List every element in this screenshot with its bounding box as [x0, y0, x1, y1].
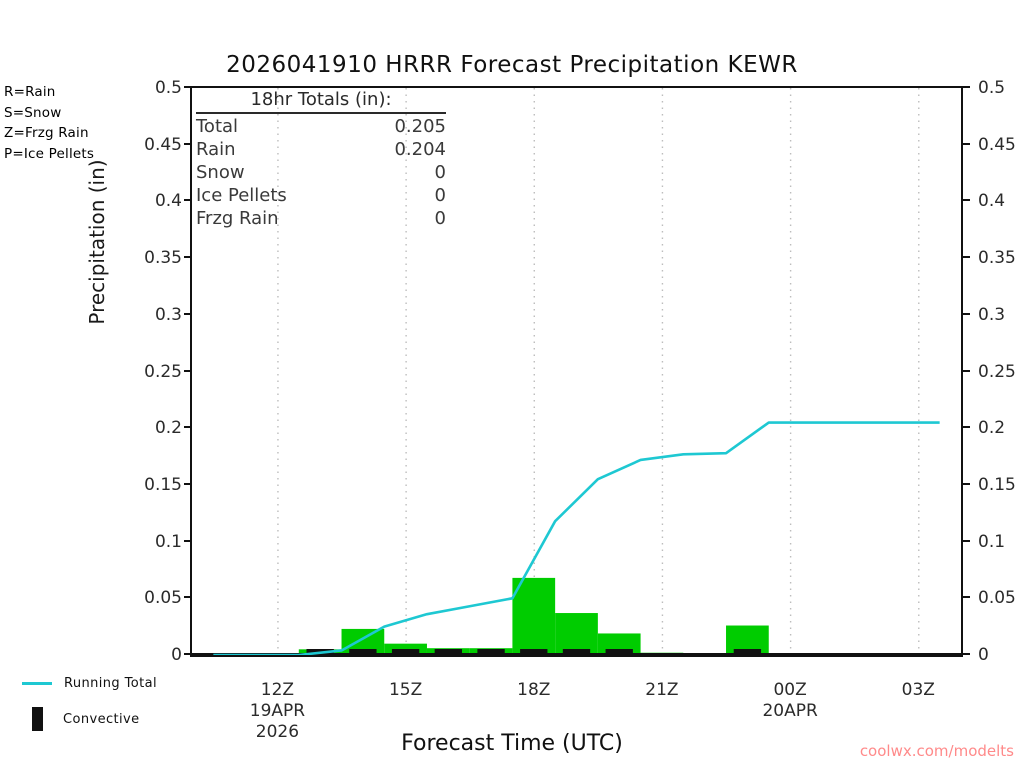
- plot-svg: RRRRRRRRR: [192, 88, 961, 655]
- y-axis-title: Precipitation (in): [85, 117, 109, 367]
- legend-item-running-total: Running Total: [10, 665, 190, 701]
- legend-label-ice-pellets: P=Ice Pellets: [4, 146, 94, 162]
- y-tick-label-right: 0.1: [978, 532, 1005, 552]
- running-total-line-swatch: [22, 682, 52, 685]
- y-tick-mark-left: [184, 370, 192, 372]
- y-tick-label-left: 0.1: [155, 532, 182, 552]
- y-tick-mark-right: [962, 370, 970, 372]
- x-tick-hour: 15Z: [389, 680, 422, 701]
- y-tick-mark-right: [962, 256, 970, 258]
- y-tick-label-left: 0.2: [155, 418, 182, 438]
- legend-item-ice-pellets: P=Ice Pellets: [4, 144, 94, 165]
- x-tick-label: 00Z20APR: [762, 680, 817, 722]
- y-tick-mark-left: [184, 483, 192, 485]
- x-tick-label: 15Z: [389, 680, 422, 701]
- plot-inner: RRRRRRRRR: [192, 88, 961, 655]
- y-tick-mark-right: [962, 653, 970, 655]
- y-tick-mark-right: [962, 313, 970, 315]
- x-tick-label: 03Z: [902, 680, 935, 701]
- x-tick-sublabel: 20APR: [762, 701, 817, 722]
- y-tick-mark-left: [184, 540, 192, 542]
- y-tick-label-left: 0.3: [155, 305, 182, 325]
- y-tick-label-left: 0: [171, 645, 182, 665]
- x-tick-hour: 18Z: [517, 680, 550, 701]
- x-tick-hour: 21Z: [645, 680, 678, 701]
- series-legend: Running Total Convective: [10, 665, 190, 737]
- y-tick-mark-right: [962, 143, 970, 145]
- y-tick-label-right: 0.2: [978, 418, 1005, 438]
- y-tick-label-left: 0.4: [155, 191, 182, 211]
- y-tick-mark-right: [962, 596, 970, 598]
- y-tick-mark-left: [184, 256, 192, 258]
- y-tick-mark-left: [184, 86, 192, 88]
- y-tick-label-right: 0.05: [978, 588, 1016, 608]
- legend-item-rain: R=Rain: [4, 82, 94, 103]
- x-tick-hour: 03Z: [902, 680, 935, 701]
- legend-label-snow: S=Snow: [4, 105, 62, 121]
- y-tick-mark-left: [184, 653, 192, 655]
- x-tick-label: 18Z: [517, 680, 550, 701]
- y-tick-mark-left: [184, 426, 192, 428]
- y-axis-left-ticks: 00.050.10.150.20.250.30.350.40.450.5: [118, 86, 182, 657]
- y-tick-mark-right: [962, 426, 970, 428]
- y-tick-label-left: 0.15: [144, 475, 182, 495]
- y-tick-label-left: 0.25: [144, 362, 182, 382]
- y-tick-mark-right: [962, 86, 970, 88]
- y-tick-label-left: 0.05: [144, 588, 182, 608]
- x-tick-label: 21Z: [645, 680, 678, 701]
- y-tick-label-right: 0.35: [978, 248, 1016, 268]
- plot-area: RRRRRRRRR: [190, 86, 963, 657]
- legend-label-running-total: Running Total: [64, 676, 157, 691]
- y-tick-mark-right: [962, 540, 970, 542]
- legend-item-convective: Convective: [10, 701, 190, 737]
- y-tick-label-right: 0: [978, 645, 989, 665]
- y-axis-right-ticks: 00.050.10.150.20.250.30.350.40.450.5: [978, 86, 1024, 657]
- legend-item-frzg-rain: Z=Frzg Rain: [4, 123, 94, 144]
- precip-bar: [555, 613, 598, 655]
- y-tick-mark-right: [962, 483, 970, 485]
- x-tick-sublabel: 19APR: [250, 701, 305, 722]
- y-tick-label-right: 0.4: [978, 191, 1005, 211]
- y-tick-label-right: 0.5: [978, 78, 1005, 98]
- y-tick-mark-left: [184, 143, 192, 145]
- y-tick-label-right: 0.15: [978, 475, 1016, 495]
- y-tick-label-left: 0.5: [155, 78, 182, 98]
- y-tick-label-left: 0.45: [144, 135, 182, 155]
- y-tick-mark-right: [962, 199, 970, 201]
- legend-label-convective: Convective: [63, 712, 140, 727]
- x-tick-hour: 12Z: [250, 680, 305, 701]
- convective-bar-swatch: [32, 707, 43, 731]
- legend-label-rain: R=Rain: [4, 84, 56, 100]
- legend-label-frzg-rain: Z=Frzg Rain: [4, 125, 89, 141]
- y-tick-label-left: 0.35: [144, 248, 182, 268]
- y-tick-mark-left: [184, 313, 192, 315]
- y-tick-label-right: 0.3: [978, 305, 1005, 325]
- x-tick-hour: 00Z: [762, 680, 817, 701]
- chart-canvas: 2026041910 HRRR Forecast Precipitation K…: [0, 0, 1024, 768]
- y-tick-label-right: 0.25: [978, 362, 1016, 382]
- y-tick-mark-left: [184, 199, 192, 201]
- y-tick-label-right: 0.45: [978, 135, 1016, 155]
- legend-item-snow: S=Snow: [4, 103, 94, 124]
- page-title: 2026041910 HRRR Forecast Precipitation K…: [0, 52, 1024, 78]
- precip-bar: [512, 578, 555, 655]
- y-tick-mark-left: [184, 596, 192, 598]
- watermark: coolwx.com/modelts: [0, 742, 1014, 760]
- precip-type-legend: R=Rain S=Snow Z=Frzg Rain P=Ice Pellets: [4, 82, 94, 164]
